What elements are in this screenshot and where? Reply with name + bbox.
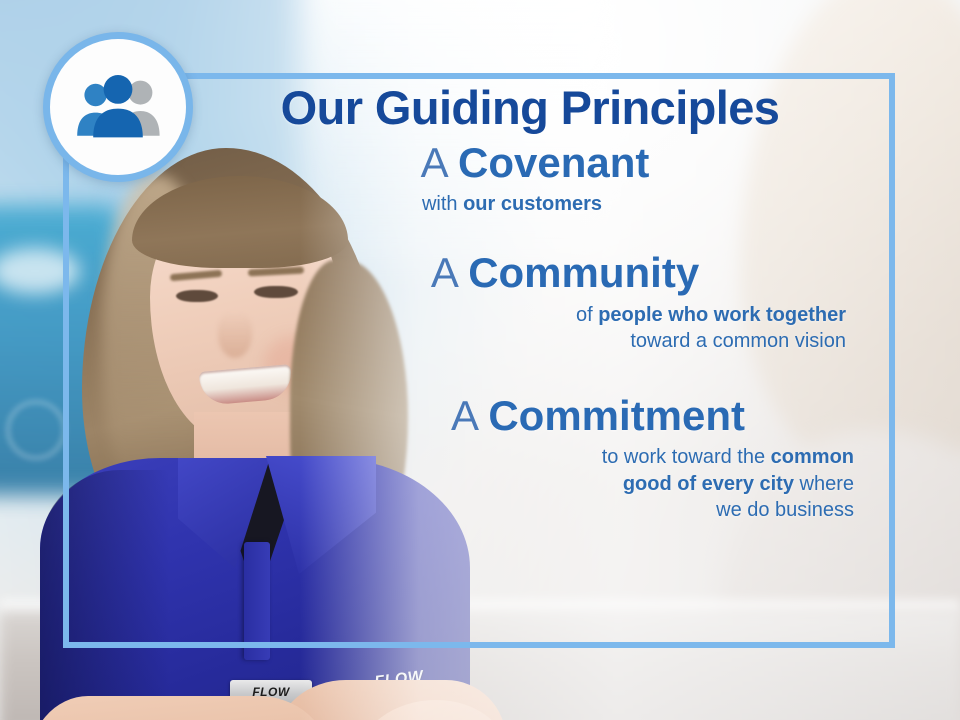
covenant-sub-plain: with xyxy=(422,193,463,215)
commitment-sub3-plain: we do business xyxy=(716,499,854,521)
commitment-sub-line-1: to work toward the common xyxy=(190,444,854,470)
commitment-sub-line-2: good of every city where xyxy=(190,471,854,497)
community-sub1-plain: of xyxy=(576,304,598,326)
community-article: A xyxy=(431,249,457,296)
community-sub2-plain: toward a common vision xyxy=(630,330,846,352)
people-icon-badge xyxy=(43,32,193,182)
community-sub-line-2: toward a common vision xyxy=(190,328,846,354)
covenant-article: A xyxy=(421,139,447,186)
community-sub-line-1: of people who work together xyxy=(190,302,846,328)
page-title: Our Guiding Principles xyxy=(190,84,870,131)
principle-covenant: A Covenant with our customers xyxy=(190,141,870,217)
covenant-sub-bold: our customers xyxy=(463,193,602,215)
commitment-sub1-plain: to work toward the xyxy=(602,446,771,468)
commitment-keyword: Commitment xyxy=(488,392,745,439)
principle-covenant-heading: A Covenant xyxy=(190,141,870,185)
principle-community-heading: A Community xyxy=(190,251,870,295)
commitment-article: A xyxy=(451,392,477,439)
banner-stage: FLOW AUTOMOTIVE FLOW xyxy=(0,0,960,720)
community-keyword: Community xyxy=(468,249,699,296)
principle-commitment-subtext: to work toward the common good of every … xyxy=(190,444,870,523)
employee-arm-left xyxy=(28,696,328,720)
principle-community: A Community of people who work together … xyxy=(190,251,870,354)
principle-commitment: A Commitment to work toward the common g… xyxy=(190,394,870,523)
community-sub1-bold: people who work together xyxy=(598,304,846,326)
commitment-sub2-plain: where xyxy=(794,473,854,495)
covenant-keyword: Covenant xyxy=(458,139,649,186)
vw-logo-blurred-icon xyxy=(6,400,66,460)
commitment-sub-line-3: we do business xyxy=(190,497,854,523)
commitment-sub2-bold: good of every city xyxy=(623,473,794,495)
people-group-icon xyxy=(70,73,166,141)
commitment-sub1-bold: common xyxy=(771,446,854,468)
principle-commitment-heading: A Commitment xyxy=(190,394,870,438)
text-content: Our Guiding Principles A Covenant with o… xyxy=(190,84,870,524)
principle-covenant-subtext: with our customers xyxy=(190,191,870,217)
principle-community-subtext: of people who work together toward a com… xyxy=(190,302,870,355)
